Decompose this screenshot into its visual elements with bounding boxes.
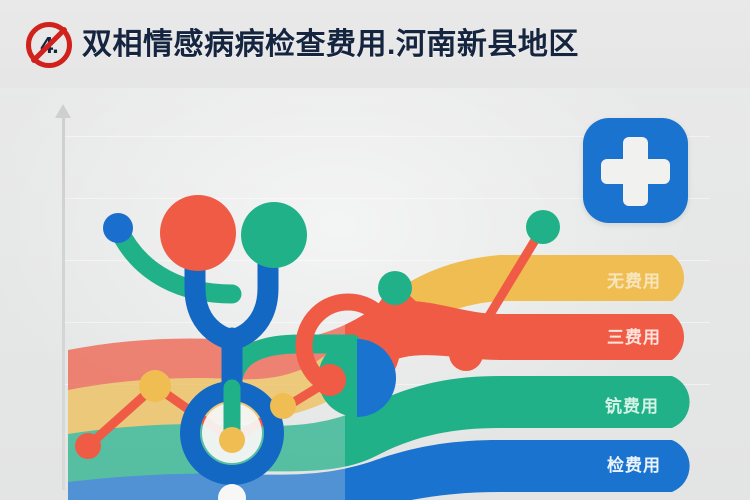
cord-node xyxy=(103,213,133,243)
data-point xyxy=(219,427,245,453)
title-row: 4. 双相情感病病检查费用.河南新县地区 xyxy=(26,22,579,68)
data-point xyxy=(526,210,560,244)
legend-label-teal-band: 钪费用 xyxy=(605,392,659,417)
prohibition-circle-icon: 4. xyxy=(26,22,72,68)
legend-label-blue-band: 检费用 xyxy=(607,451,661,476)
data-point xyxy=(270,393,296,419)
earpiece-right xyxy=(241,202,307,268)
data-point xyxy=(314,364,346,396)
page-title: 双相情感病病检查费用.河南新县地区 xyxy=(82,30,579,60)
data-point xyxy=(378,271,412,305)
data-point xyxy=(139,370,171,402)
earpiece-left xyxy=(160,195,236,271)
data-point xyxy=(75,433,101,459)
data-point xyxy=(449,337,483,371)
legend-label-red-band: 三费用 xyxy=(607,323,661,348)
chest-piece-bead xyxy=(218,484,246,500)
legend-label-yellow-band: 无费用 xyxy=(607,267,661,292)
infographic-banner: 4. 双相情感病病检查费用.河南新县地区 xyxy=(0,0,750,500)
stethoscope-illustration xyxy=(103,195,352,500)
medical-cross-icon xyxy=(583,118,688,223)
cross-bar-vertical xyxy=(623,137,648,206)
header-bar: 4. 双相情感病病检查费用.河南新县地区 xyxy=(0,0,750,88)
